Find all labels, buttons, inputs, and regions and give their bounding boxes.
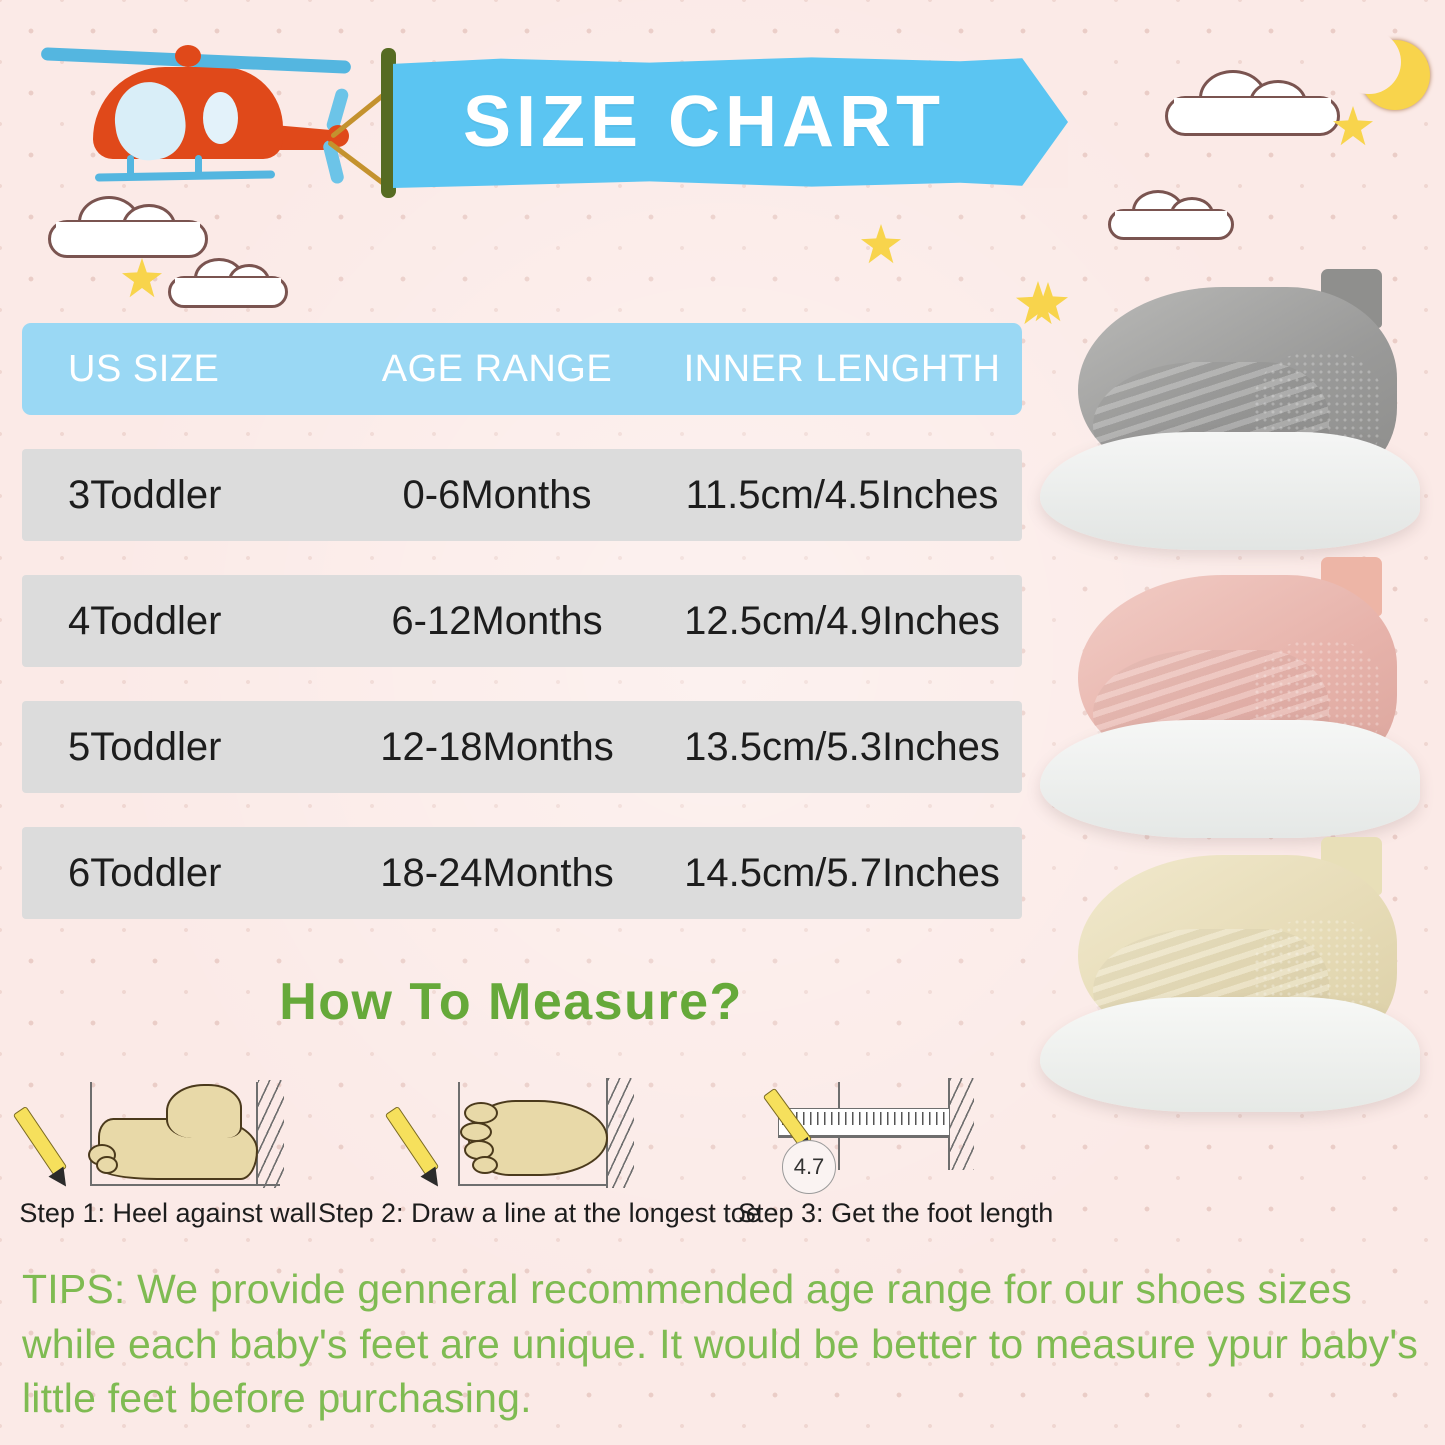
pink-knit-baby-shoe: [1040, 570, 1420, 838]
helicopter-icon: [55, 30, 385, 205]
measure-step-3: 4.7 Step 3: Get the foot length: [738, 1078, 1038, 1196]
cloud-icon: [1108, 190, 1234, 240]
helicopter-skid-leg: [195, 155, 202, 177]
table-header-row: US SIZE AGE RANGE INNER LENGHTH: [22, 323, 1022, 415]
measurement-steps: Step 1: Heel against wall Step 2: Draw a…: [18, 1078, 1038, 1238]
helicopter-skid: [95, 170, 275, 181]
cell-inner-length: 14.5cm/5.7Inches: [662, 851, 1022, 896]
page-title: SIZE CHART: [463, 56, 993, 188]
table-row: 5Toddler 12-18Months 13.5cm/5.3Inches: [22, 701, 1022, 793]
table-row: 3Toddler 0-6Months 11.5cm/4.5Inches: [22, 449, 1022, 541]
table-row: 6Toddler 18-24Months 14.5cm/5.7Inches: [22, 827, 1022, 919]
cell-us-size: 4Toddler: [22, 599, 332, 644]
cell-age-range: 18-24Months: [332, 851, 662, 896]
column-header-age-range: AGE RANGE: [332, 348, 662, 391]
crescent-moon-cutout: [1337, 30, 1401, 94]
measure-step-1: Step 1: Heel against wall: [18, 1078, 318, 1196]
ruler-reading-bubble: 4.7: [782, 1140, 836, 1194]
size-chart-table: US SIZE AGE RANGE INNER LENGHTH 3Toddler…: [22, 323, 1022, 919]
ruler-icon: 4.7: [738, 1078, 1038, 1196]
gray-knit-baby-shoe: [1040, 282, 1420, 550]
cloud-icon: [1165, 70, 1340, 136]
shoe-sole: [1040, 720, 1420, 838]
helicopter-skid-leg: [127, 155, 134, 177]
shoe-sole: [1040, 432, 1420, 550]
step-1-caption: Step 1: Heel against wall: [18, 1198, 318, 1229]
column-header-us-size: US SIZE: [22, 348, 332, 391]
shoe-sole: [1040, 997, 1420, 1112]
step-2-caption: Step 2: Draw a line at the longest toe: [318, 1198, 738, 1229]
beige-knit-baby-shoe: [1040, 850, 1420, 1112]
measure-step-2: Step 2: Draw a line at the longest toe: [318, 1078, 738, 1196]
cell-us-size: 3Toddler: [22, 473, 332, 518]
cell-age-range: 6-12Months: [332, 599, 662, 644]
foot-top-view-icon: [318, 1078, 738, 1196]
cell-us-size: 5Toddler: [22, 725, 332, 770]
foot-side-view-icon: [18, 1078, 318, 1196]
cloud-icon: [48, 196, 208, 258]
cell-age-range: 0-6Months: [332, 473, 662, 518]
cell-inner-length: 13.5cm/5.3Inches: [662, 725, 1022, 770]
how-to-measure-heading: How To Measure?: [0, 972, 1022, 1032]
cloud-icon: [168, 258, 288, 308]
star-icon: [122, 258, 162, 298]
column-header-inner-length: INNER LENGHTH: [662, 348, 1022, 391]
helicopter-rotor-hub: [175, 45, 201, 67]
helicopter-window-rear: [203, 92, 238, 144]
cell-us-size: 6Toddler: [22, 851, 332, 896]
size-chart-banner: SIZE CHART: [393, 56, 1068, 188]
star-icon: [861, 224, 901, 264]
cell-age-range: 12-18Months: [332, 725, 662, 770]
step-3-caption: Step 3: Get the foot length: [738, 1198, 1038, 1229]
tips-paragraph: TIPS: We provide genneral recommended ag…: [22, 1262, 1422, 1426]
cell-inner-length: 11.5cm/4.5Inches: [662, 473, 1022, 518]
cell-inner-length: 12.5cm/4.9Inches: [662, 599, 1022, 644]
table-row: 4Toddler 6-12Months 12.5cm/4.9Inches: [22, 575, 1022, 667]
